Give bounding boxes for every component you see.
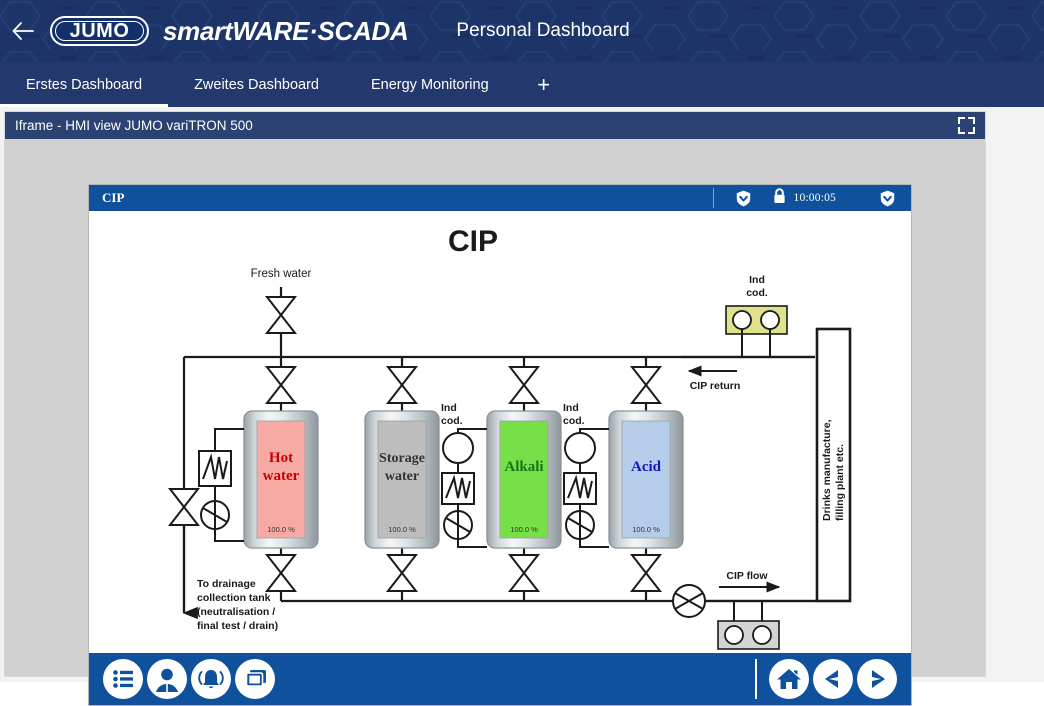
valve-tank1-inlet[interactable] <box>267 367 295 403</box>
pump-acid[interactable] <box>566 511 594 539</box>
plant-block-line2: filling plant etc. <box>834 444 846 521</box>
app-header: JUMO smartWARE·SCADA Personal Dashboard <box>0 0 1044 62</box>
hmi-bottom-toolbar <box>89 653 911 705</box>
valve-tank2-inlet[interactable] <box>388 367 416 403</box>
label-ind-cod-alkali: Ind cod. <box>441 402 463 427</box>
jumo-logo: JUMO <box>50 16 149 46</box>
hmi-screen-title: CIP <box>102 190 124 206</box>
label-ind-cod-acid: Ind cod. <box>563 402 585 427</box>
forward-button[interactable] <box>857 659 897 699</box>
tab-label: Energy Monitoring <box>371 77 489 93</box>
expand-fullscreen-icon[interactable] <box>958 117 975 134</box>
bell-alarm-icon <box>197 666 225 692</box>
chevron-right-icon <box>865 667 889 691</box>
iframe-widget: Iframe - HMI view JUMO variTRON 500 CIP <box>4 111 986 677</box>
user-icon <box>153 665 181 693</box>
tank-level-value: 100.0 % <box>510 525 538 534</box>
tab-energy-monitoring[interactable]: Energy Monitoring <box>345 62 515 107</box>
hmi-topbar-divider <box>713 188 714 208</box>
jumo-logo-text: JUMO <box>70 20 130 43</box>
iframe-titlebar: Iframe - HMI view JUMO variTRON 500 <box>5 112 985 139</box>
home-button[interactable] <box>769 659 809 699</box>
svg-text:cod.: cod. <box>563 415 585 427</box>
valve-tank4-outlet[interactable] <box>632 555 660 591</box>
tank-hot-water[interactable]: Hot water 100.0 % <box>244 411 318 548</box>
tank-level-value: 100.0 % <box>632 525 660 534</box>
tank-alkali[interactable]: Alkali 100.0 % <box>487 411 561 548</box>
svg-text:collection tank: collection tank <box>197 592 271 604</box>
tank-label-line2: water <box>263 468 300 484</box>
toolbar-divider <box>755 659 757 699</box>
home-icon <box>775 666 803 692</box>
back-arrow-icon[interactable] <box>0 0 46 62</box>
pages-button[interactable] <box>235 659 275 699</box>
list-menu-icon <box>110 666 136 692</box>
tank-label-line1: Storage <box>379 451 425 466</box>
valve-fresh-water-inlet[interactable] <box>267 297 295 333</box>
label-cip-flow: CIP flow <box>726 570 768 582</box>
tab-erstes-dashboard[interactable]: Erstes Dashboard <box>0 62 168 107</box>
tank-label-line1: Alkali <box>504 459 543 475</box>
chevron-left-icon <box>821 667 845 691</box>
valve-tank2-outlet[interactable] <box>388 555 416 591</box>
sensor-ind-cod-acid[interactable] <box>565 433 595 463</box>
svg-text:cod.: cod. <box>746 287 768 299</box>
label-cip-return: CIP return <box>690 380 741 392</box>
ind-cod-box-top[interactable] <box>726 306 787 357</box>
tank-level-value: 100.0 % <box>388 525 416 534</box>
pump-hot-water[interactable] <box>201 501 229 529</box>
label-drainage: To drainage collection tank (neutralisat… <box>197 578 278 632</box>
windows-pages-icon <box>242 667 269 691</box>
svg-text:Ind: Ind <box>749 274 765 286</box>
iframe-scrollbar[interactable] <box>975 139 985 676</box>
ind-cod-box-bottom[interactable] <box>718 601 779 649</box>
tank-label-line1: Hot <box>269 450 293 466</box>
tab-bar: Erstes Dashboard Zweites Dashboard Energ… <box>0 62 1044 107</box>
label-ind-cod-top: Ind cod. <box>746 274 768 299</box>
tank-label-line2: water <box>385 469 419 484</box>
hmi-topbar: CIP 10:00:05 <box>89 185 911 211</box>
tank-storage-water[interactable]: Storage water 100.0 % <box>365 411 439 548</box>
heat-exchanger-hot-water[interactable] <box>199 451 231 486</box>
alarm-button[interactable] <box>191 659 231 699</box>
svg-text:Ind: Ind <box>563 402 579 414</box>
hmi-screen: CIP 10:00:05 <box>88 184 912 706</box>
back-arrow-glyph <box>12 22 34 40</box>
back-button[interactable] <box>813 659 853 699</box>
diagram-title: CIP <box>448 225 498 258</box>
svg-text:final test / drain): final test / drain) <box>197 620 278 632</box>
menu-button[interactable] <box>103 659 143 699</box>
iframe-content: CIP 10:00:05 <box>5 139 985 676</box>
plant-block-line1: Drinks manufacture, <box>821 419 833 521</box>
page-title: Personal Dashboard <box>456 20 629 42</box>
heat-exchanger-acid[interactable] <box>564 473 596 504</box>
tank-level-value: 100.0 % <box>267 525 295 534</box>
product-name: smartWARE·SCADA <box>163 16 408 47</box>
lock-icon[interactable] <box>773 188 786 209</box>
shield-down-icon-right[interactable] <box>880 190 895 207</box>
valve-drain[interactable] <box>170 489 198 525</box>
hmi-process-diagram: CIP <box>89 211 911 655</box>
svg-text:cod.: cod. <box>441 415 463 427</box>
svg-text:Ind: Ind <box>441 402 457 414</box>
tank-acid[interactable]: Acid 100.0 % <box>609 411 683 548</box>
svg-text:(neutralisation /: (neutralisation / <box>197 606 275 618</box>
iframe-title: Iframe - HMI view JUMO variTRON 500 <box>15 118 958 133</box>
tab-label: Zweites Dashboard <box>194 77 319 93</box>
valve-tank3-inlet[interactable] <box>510 367 538 403</box>
sensor-ind-cod-alkali[interactable] <box>443 433 473 463</box>
heat-exchanger-alkali[interactable] <box>442 473 474 504</box>
user-button[interactable] <box>147 659 187 699</box>
valve-tank1-outlet[interactable] <box>267 555 295 591</box>
pump-cip-flow[interactable] <box>673 585 705 617</box>
hmi-clock: 10:00:05 <box>794 192 837 204</box>
tank-label-line1: Acid <box>631 459 662 475</box>
tab-zweites-dashboard[interactable]: Zweites Dashboard <box>168 62 345 107</box>
pump-alkali[interactable] <box>444 511 472 539</box>
tab-label: Erstes Dashboard <box>26 77 142 93</box>
shield-down-icon[interactable] <box>736 190 751 207</box>
valve-tank4-inlet[interactable] <box>632 367 660 403</box>
valve-tank3-outlet[interactable] <box>510 555 538 591</box>
add-tab-button[interactable]: + <box>515 62 573 107</box>
svg-text:To drainage: To drainage <box>197 578 256 590</box>
plant-block[interactable]: Drinks manufacture, filling plant etc. <box>817 329 850 601</box>
label-fresh-water: Fresh water <box>251 268 312 280</box>
